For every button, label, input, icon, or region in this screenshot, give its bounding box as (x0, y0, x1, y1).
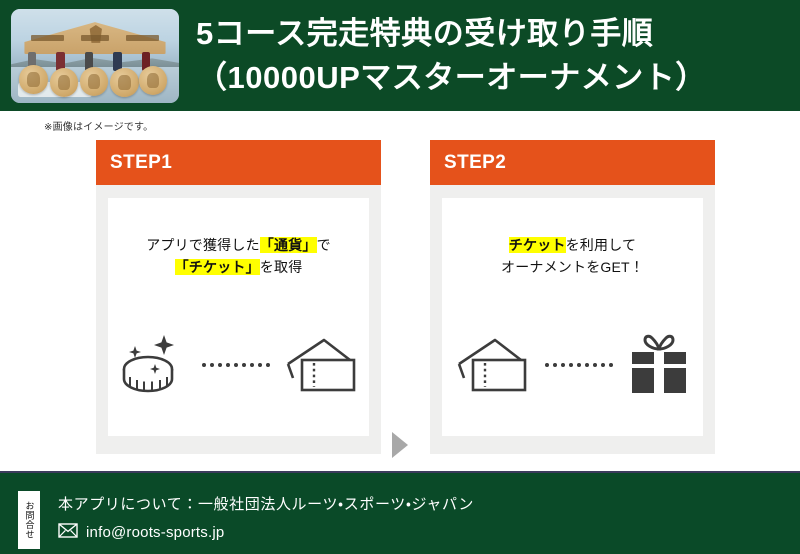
step-1-header: STEP1 (96, 140, 381, 185)
page-title-line-2: （10000UPマスターオーナメント） (196, 56, 792, 100)
ticket-icon (455, 334, 531, 396)
steps-container: STEP1 アプリで獲得した「通貨」で「チケット」を取得 (0, 140, 800, 460)
photo-medals (11, 9, 179, 103)
step-1-label: STEP1 (110, 152, 172, 174)
coin-icon (118, 331, 188, 399)
step-1-card: アプリで獲得した「通貨」で「チケット」を取得 (108, 198, 369, 436)
footer-email-row[interactable]: info@roots-sports.jp (58, 523, 474, 543)
ticket-icon (284, 334, 360, 396)
step-2-description: チケットを利用してオーナメントをGET！ (442, 234, 703, 278)
step-panel-1: STEP1 アプリで獲得した「通貨」で「チケット」を取得 (96, 140, 381, 454)
contact-tag: お問合せ (18, 491, 40, 549)
footer-contact-block: 本アプリについて：一般社団法人ルーツ・スポーツ・ジャパン info@roots-… (58, 493, 474, 543)
page-footer: お問合せ 本アプリについて：一般社団法人ルーツ・スポーツ・ジャパン info@r… (0, 471, 800, 554)
photo-medal (50, 68, 79, 97)
step-panel-2: STEP2 チケットを利用してオーナメントをGET！ (430, 140, 715, 454)
dotted-line (196, 363, 276, 367)
image-disclaimer-note: ※画像はイメージです。 (44, 118, 153, 133)
photo-medal (139, 66, 168, 95)
page-header: 5コース完走特典の受け取り手順 （10000UPマスターオーナメント） (0, 0, 800, 111)
step-2-label: STEP2 (444, 152, 506, 174)
slide-page: 5コース完走特典の受け取り手順 （10000UPマスターオーナメント） ※画像は… (0, 0, 800, 554)
contact-email[interactable]: info@roots-sports.jp (86, 523, 224, 543)
step-2-header: STEP2 (430, 140, 715, 185)
photo-medal (110, 68, 139, 97)
ornament-photo (11, 9, 179, 103)
photo-medal (19, 65, 48, 94)
step-1-icons (108, 322, 369, 408)
page-title: 5コース完走特典の受け取り手順 （10000UPマスターオーナメント） (196, 12, 792, 100)
step-1-description: アプリで獲得した「通貨」で「チケット」を取得 (108, 234, 369, 278)
gift-icon (627, 332, 691, 398)
step-arrow-icon (392, 432, 408, 458)
footer-app-info: 本アプリについて：一般社団法人ルーツ・スポーツ・ジャパン (58, 493, 474, 517)
envelope-icon (58, 523, 78, 543)
page-title-line-1: 5コース完走特典の受け取り手順 (196, 12, 792, 56)
step-2-card: チケットを利用してオーナメントをGET！ (442, 198, 703, 436)
dotted-line (539, 363, 619, 367)
photo-medal (80, 67, 109, 96)
step-2-icons (442, 322, 703, 408)
